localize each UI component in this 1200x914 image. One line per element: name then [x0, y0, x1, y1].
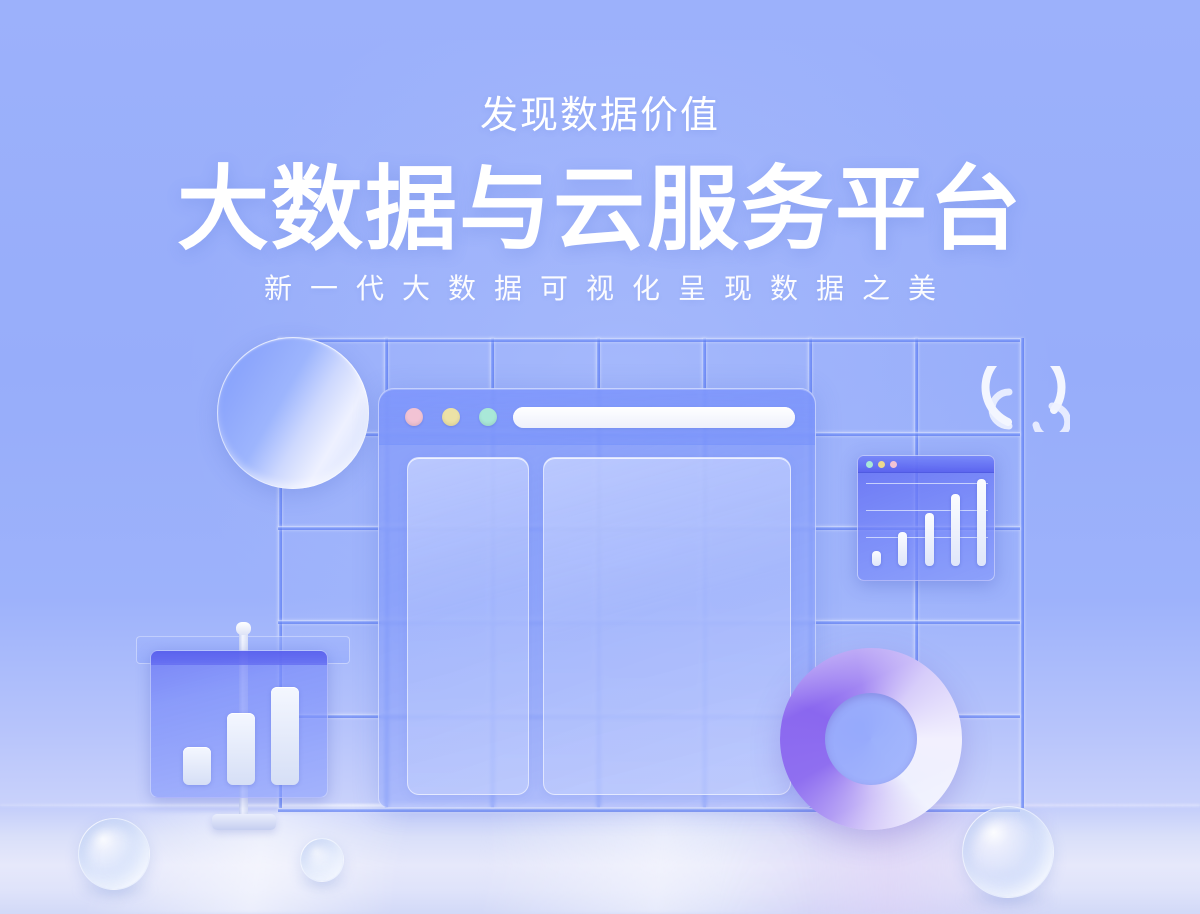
kiosk-bar-3 — [271, 687, 299, 785]
kiosk-stand-knob — [236, 622, 251, 635]
green-dot[interactable] — [866, 461, 873, 468]
kiosk-stand-base — [212, 814, 276, 830]
address-bar-input[interactable] — [513, 407, 795, 428]
green-dot[interactable] — [479, 408, 497, 426]
browser-title-bar — [379, 389, 815, 445]
yellow-dot[interactable] — [878, 461, 885, 468]
kiosk-bar-1 — [183, 747, 211, 785]
mini-chart-gridline-2 — [866, 510, 988, 511]
mini-chart-bar-5 — [977, 479, 986, 566]
glass-disc-edge — [217, 337, 369, 489]
glass-sphere-center — [300, 838, 344, 882]
mini-chart-window[interactable] — [857, 455, 995, 581]
glass-sphere-left — [78, 818, 150, 890]
pink-dot[interactable] — [890, 461, 897, 468]
mini-window-title-bar — [858, 456, 994, 473]
left-content-panel[interactable] — [407, 457, 529, 795]
kiosk-screen-header — [151, 651, 327, 665]
yellow-dot[interactable] — [442, 408, 460, 426]
mini-chart-bar-3 — [925, 513, 934, 566]
mini-chart-bar-2 — [898, 532, 907, 566]
grid-line-horizontal — [278, 338, 1020, 342]
subtitle-text: 新一代大数据可视化呈现数据之美 — [0, 272, 1200, 306]
kiosk-screen — [150, 650, 328, 798]
right-content-panel[interactable] — [543, 457, 791, 795]
headline-block: 发现数据价值 大数据与云服务平台 新一代大数据可视化呈现数据之美 — [0, 0, 1200, 306]
mini-chart-gridline-3 — [866, 483, 988, 484]
eyebrow-text: 发现数据价值 — [0, 96, 1200, 138]
hero-stage: 发现数据价值 大数据与云服务平台 新一代大数据可视化呈现数据之美 — [0, 0, 1200, 914]
browser-window[interactable] — [378, 388, 816, 808]
mini-chart-bar-1 — [872, 551, 881, 566]
pink-dot[interactable] — [405, 408, 423, 426]
page-title: 大数据与云服务平台 — [0, 162, 1200, 259]
donut-ring — [780, 648, 962, 830]
kiosk-bar-chart — [136, 636, 350, 826]
mini-chart-bar-4 — [951, 494, 960, 566]
cloud-icon — [978, 366, 1070, 432]
kiosk-bar-2 — [227, 713, 255, 785]
glass-sphere-right — [962, 806, 1054, 898]
